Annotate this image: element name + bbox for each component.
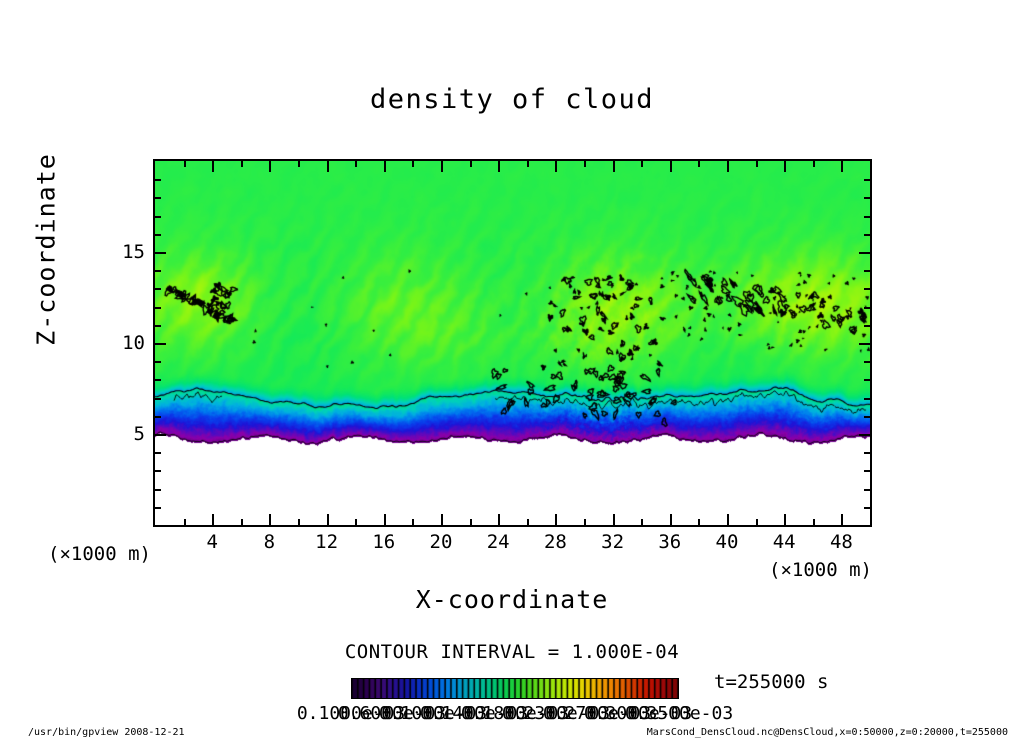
x-major-tick: [327, 514, 329, 525]
x-minor-tick-top: [641, 161, 643, 167]
contour-interval-label: CONTOUR INTERVAL = 1.000E-04: [0, 641, 1024, 663]
x-major-tick-top: [841, 161, 843, 172]
y-major-tick: [155, 434, 166, 436]
x-major-tick-top: [384, 161, 386, 172]
colorbar-tick-labels: 0.1000e-030.6000e-030.1000e-030.1400e-03…: [0, 703, 1024, 725]
y-minor-tick-right: [864, 270, 870, 272]
x-minor-tick: [584, 519, 586, 525]
x-major-tick-top: [269, 161, 271, 172]
y-minor-tick-right: [864, 398, 870, 400]
x-tick-label: 32: [601, 531, 624, 553]
colorbar: [351, 678, 679, 699]
page-title: density of cloud: [0, 84, 1024, 115]
y-minor-tick-right: [864, 307, 870, 309]
x-minor-tick-top: [584, 161, 586, 167]
y-tick-label: 5: [105, 423, 145, 445]
y-minor-tick-right: [864, 325, 870, 327]
x-major-tick: [212, 514, 214, 525]
y-minor-tick: [155, 234, 161, 236]
x-minor-tick-top: [241, 161, 243, 167]
x-tick-label: 44: [773, 531, 796, 553]
y-minor-tick-right: [864, 179, 870, 181]
y-major-tick-right: [859, 343, 870, 345]
y-minor-tick: [155, 379, 161, 381]
y-minor-tick: [155, 470, 161, 472]
y-major-tick-right: [859, 434, 870, 436]
y-minor-tick: [155, 416, 161, 418]
x-tick-label: 24: [487, 531, 510, 553]
y-minor-tick-right: [864, 489, 870, 491]
x-tick-label: 20: [430, 531, 453, 553]
y-tick-label: 10: [105, 332, 145, 354]
y-minor-tick: [155, 507, 161, 509]
y-axis-unit-label: (×1000 m): [48, 543, 151, 565]
x-minor-tick: [756, 519, 758, 525]
x-tick-label: 8: [264, 531, 275, 553]
y-minor-tick: [155, 307, 161, 309]
x-major-tick-top: [555, 161, 557, 172]
y-major-tick: [155, 343, 166, 345]
x-tick-label: 40: [716, 531, 739, 553]
y-minor-tick: [155, 179, 161, 181]
x-minor-tick: [698, 519, 700, 525]
x-minor-tick-top: [527, 161, 529, 167]
y-tick-label: 15: [105, 241, 145, 263]
x-major-tick: [498, 514, 500, 525]
x-minor-tick-top: [470, 161, 472, 167]
time-annotation: t=255000 s: [714, 671, 828, 693]
y-minor-tick-right: [864, 507, 870, 509]
x-major-tick: [727, 514, 729, 525]
y-minor-tick: [155, 288, 161, 290]
x-minor-tick: [355, 519, 357, 525]
y-minor-tick: [155, 216, 161, 218]
x-minor-tick-top: [298, 161, 300, 167]
x-minor-tick: [241, 519, 243, 525]
colorbar-canvas: [352, 679, 678, 698]
y-minor-tick-right: [864, 416, 870, 418]
y-minor-tick: [155, 325, 161, 327]
y-minor-tick: [155, 398, 161, 400]
x-minor-tick: [527, 519, 529, 525]
x-minor-tick-top: [355, 161, 357, 167]
plot-page: density of cloud 48121620242832364044485…: [0, 0, 1024, 741]
y-major-tick: [155, 252, 166, 254]
x-tick-label: 12: [315, 531, 338, 553]
x-minor-tick: [470, 519, 472, 525]
x-minor-tick: [298, 519, 300, 525]
y-minor-tick: [155, 489, 161, 491]
y-major-tick-right: [859, 252, 870, 254]
x-minor-tick-top: [756, 161, 758, 167]
x-minor-tick: [813, 519, 815, 525]
x-minor-tick: [412, 519, 414, 525]
y-axis-title: Z-coordinate: [32, 140, 61, 360]
x-tick-label: 36: [658, 531, 681, 553]
y-minor-tick-right: [864, 379, 870, 381]
x-tick-label: 16: [372, 531, 395, 553]
x-major-tick: [441, 514, 443, 525]
footer-dataset: MarsCond_DensCloud.nc@DensCloud,x=0:5000…: [647, 727, 1008, 738]
x-tick-label: 28: [544, 531, 567, 553]
y-minor-tick: [155, 452, 161, 454]
y-minor-tick-right: [864, 234, 870, 236]
y-minor-tick: [155, 197, 161, 199]
y-minor-tick-right: [864, 288, 870, 290]
x-major-tick-top: [727, 161, 729, 172]
x-major-tick-top: [212, 161, 214, 172]
y-minor-tick-right: [864, 197, 870, 199]
density-field-canvas: [155, 161, 870, 525]
y-minor-tick: [155, 270, 161, 272]
y-minor-tick-right: [864, 452, 870, 454]
x-major-tick: [269, 514, 271, 525]
x-major-tick: [841, 514, 843, 525]
x-minor-tick-top: [412, 161, 414, 167]
x-major-tick: [784, 514, 786, 525]
x-minor-tick: [184, 519, 186, 525]
y-minor-tick-right: [864, 361, 870, 363]
x-major-tick-top: [327, 161, 329, 172]
y-minor-tick-right: [864, 216, 870, 218]
x-major-tick-top: [784, 161, 786, 172]
colorbar-tick-label: 0.3500e-03: [625, 703, 733, 724]
x-minor-tick-top: [184, 161, 186, 167]
x-axis-title: X-coordinate: [0, 585, 1024, 614]
x-major-tick-top: [670, 161, 672, 172]
x-major-tick: [613, 514, 615, 525]
footer-command: /usr/bin/gpview 2008-12-21: [28, 727, 185, 738]
x-axis-unit-label: (×1000 m): [769, 559, 872, 581]
x-tick-label: 48: [830, 531, 853, 553]
x-tick-label: 4: [206, 531, 217, 553]
x-major-tick: [670, 514, 672, 525]
x-major-tick-top: [613, 161, 615, 172]
x-minor-tick-top: [813, 161, 815, 167]
x-minor-tick: [641, 519, 643, 525]
x-major-tick-top: [498, 161, 500, 172]
plot-area: [153, 159, 872, 527]
x-major-tick-top: [441, 161, 443, 172]
x-major-tick: [555, 514, 557, 525]
x-major-tick: [384, 514, 386, 525]
y-minor-tick: [155, 361, 161, 363]
y-minor-tick-right: [864, 470, 870, 472]
x-minor-tick-top: [698, 161, 700, 167]
